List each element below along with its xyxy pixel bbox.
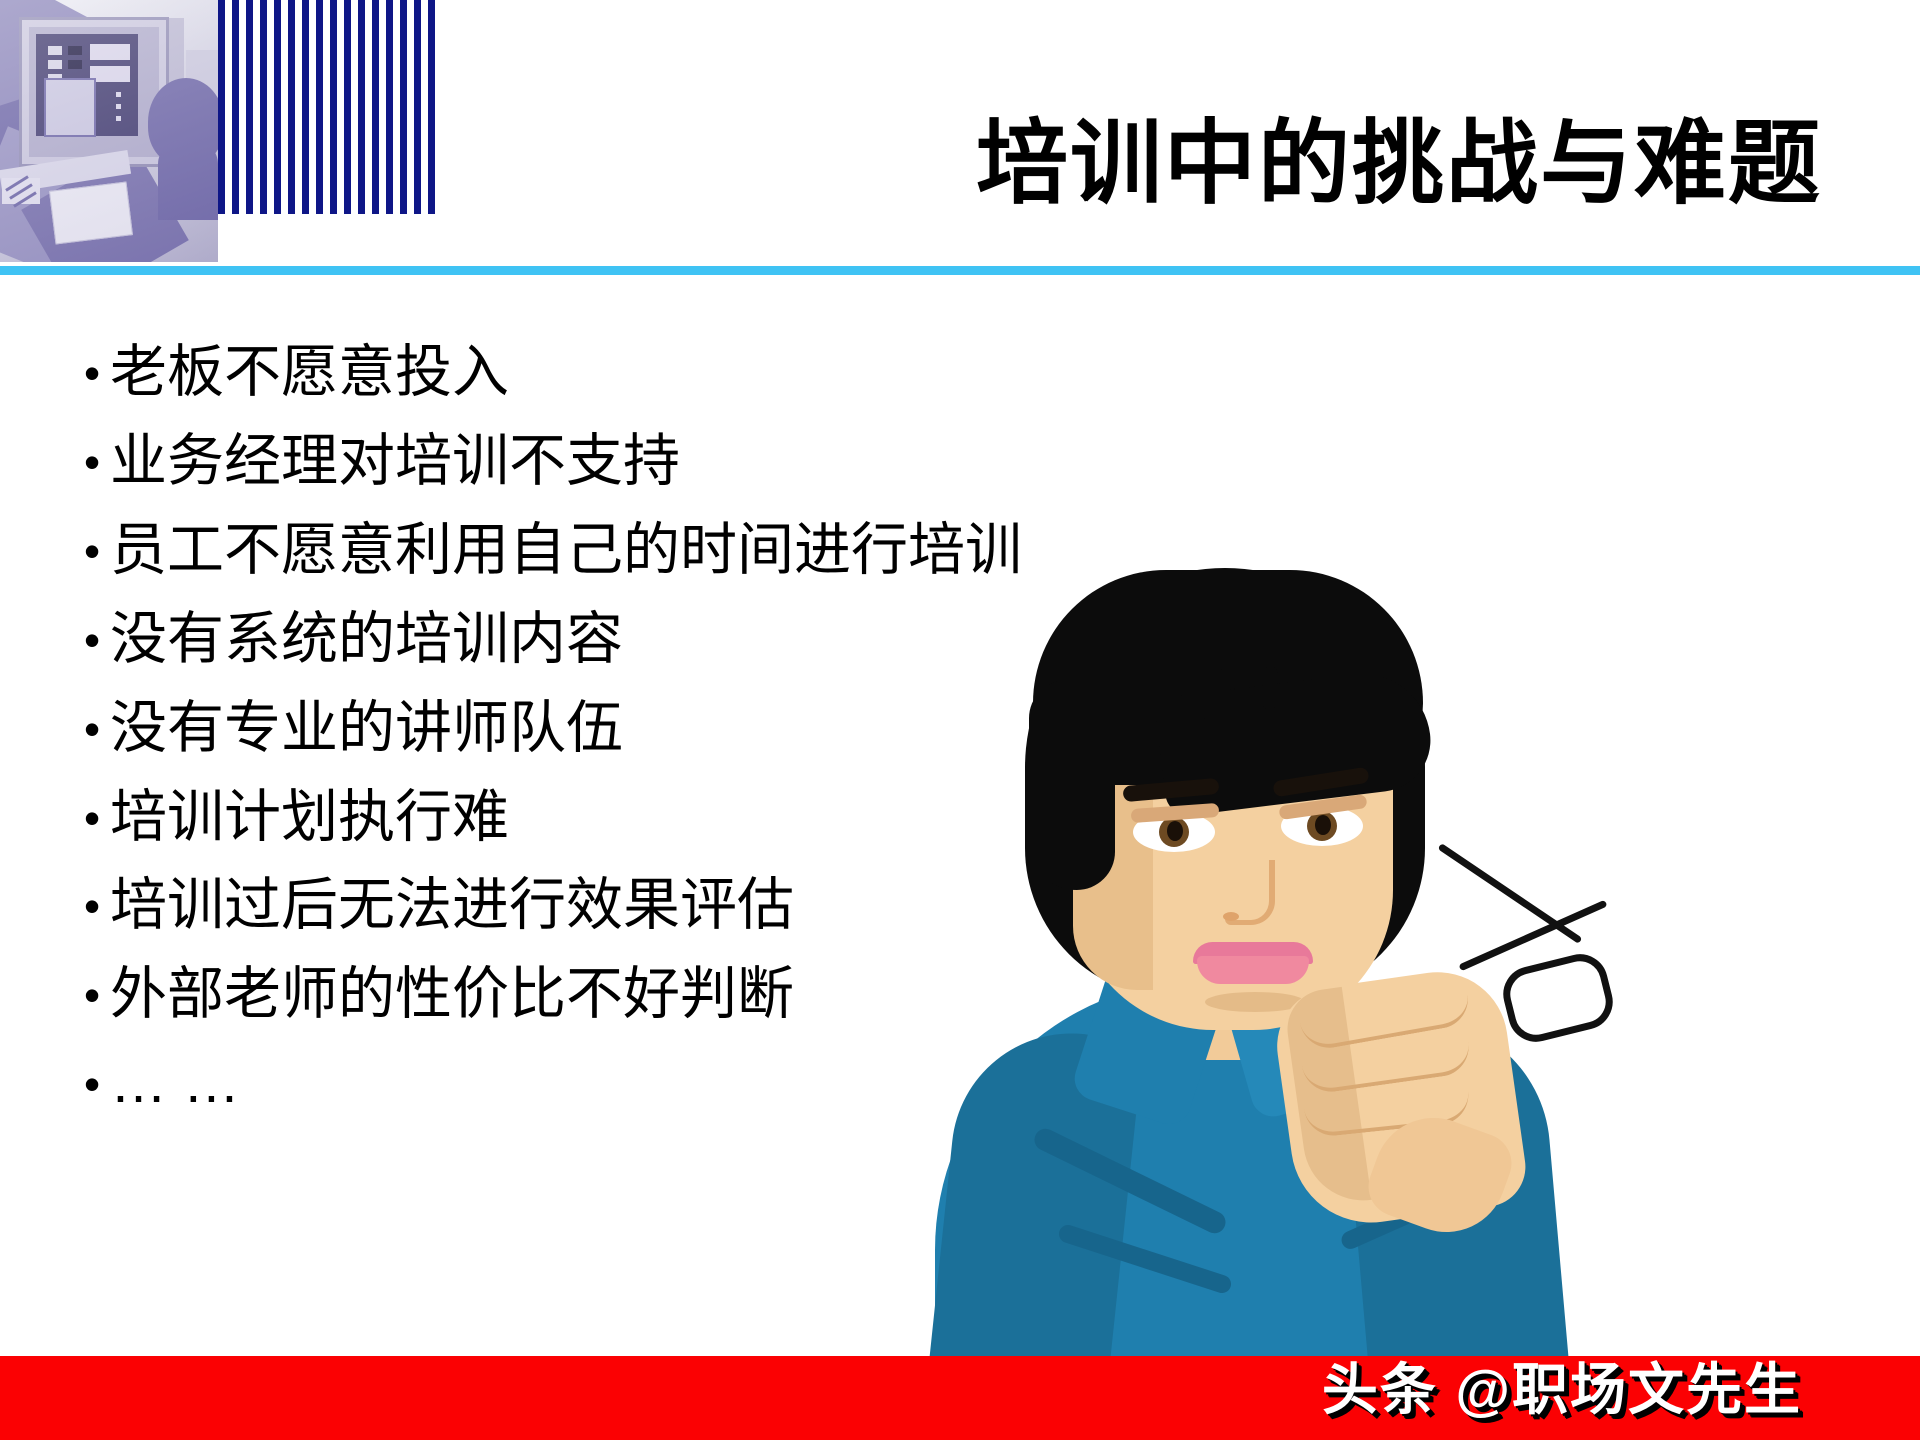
- bullet-dot-icon: •: [84, 795, 110, 841]
- list-item-label: 老板不愿意投入: [110, 340, 509, 404]
- eyeglasses-lens: [1497, 948, 1618, 1047]
- slide-header: 培训中的挑战与难题: [0, 0, 1920, 270]
- list-item-label: 没有系统的培训内容: [110, 607, 623, 671]
- bullet-dot-icon: •: [84, 972, 110, 1018]
- footer-watermark: 头条 @职场文先生: [1322, 1345, 1802, 1426]
- bullet-dot-icon: •: [84, 883, 110, 929]
- list-item-label: 外部老师的性价比不好判断: [110, 962, 794, 1026]
- list-item-label: 没有专业的讲师队伍: [110, 696, 623, 760]
- photo-tint-overlay: [0, 0, 218, 262]
- thinking-man-illustration: [905, 560, 1585, 1360]
- bullet-dot-icon: •: [84, 350, 110, 396]
- list-item-label: 培训计划执行难: [110, 785, 509, 849]
- header-decorative-photo: [0, 0, 218, 262]
- person-hair-side: [1029, 680, 1115, 890]
- list-item: •业务经理对培训不支持: [84, 417, 1184, 506]
- page-title: 培训中的挑战与难题: [470, 112, 1870, 218]
- eyeglasses-temple-arm: [1438, 843, 1583, 944]
- list-item: •老板不愿意投入: [84, 328, 1184, 417]
- list-item-label: … …: [110, 1051, 240, 1115]
- person-hair-spike: [1262, 666, 1278, 710]
- bullet-dot-icon: •: [84, 617, 110, 663]
- bullet-dot-icon: •: [84, 706, 110, 752]
- list-item-label: 培训过后无法进行效果评估: [110, 873, 794, 937]
- person-pupil: [1167, 821, 1183, 841]
- person-lower-lip: [1197, 956, 1309, 984]
- bullet-dot-icon: •: [84, 439, 110, 485]
- bullet-dot-icon: •: [84, 1061, 110, 1107]
- header-pinstripe-band: [218, 0, 440, 214]
- person-pupil: [1315, 815, 1331, 835]
- list-item-label: 业务经理对培训不支持: [110, 429, 680, 493]
- bullet-dot-icon: •: [84, 528, 110, 574]
- person-nostril: [1223, 912, 1239, 921]
- header-divider-line: [0, 266, 1920, 275]
- list-item-label: 员工不愿意利用自己的时间进行培训: [110, 518, 1022, 582]
